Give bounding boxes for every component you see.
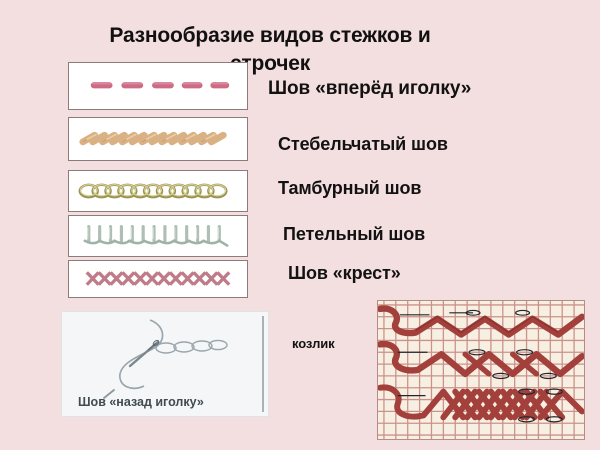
cross-stitch-box: [68, 260, 248, 298]
buttonhole-stitch-box: [68, 215, 248, 257]
backstitch-caption: Шов «назад иголку»: [78, 395, 204, 409]
label-running-stitch: Шов «вперёд иголку»: [268, 78, 471, 100]
backstitch-photo: Шов «назад иголку»: [62, 312, 268, 416]
label-stem-stitch: Стебельчатый шов: [278, 134, 448, 155]
label-chain-stitch: Тамбурный шов: [278, 178, 421, 199]
label-herringbone-stitch: козлик: [292, 336, 335, 351]
herringbone-diagram: [377, 300, 585, 440]
label-buttonhole-stitch: Петельный шов: [283, 224, 425, 245]
buttonhole-stitch-swatch: [69, 216, 247, 256]
cross-stitch-swatch: [69, 261, 247, 297]
chain-stitch-swatch: [69, 171, 247, 211]
chain-stitch-box: [68, 170, 248, 212]
label-cross-stitch: Шов «крест»: [288, 263, 401, 284]
stem-stitch-swatch: [69, 118, 247, 160]
stem-stitch-box: [68, 117, 248, 161]
slide-canvas: Разнообразие видов стежков и строчек: [0, 0, 600, 450]
running-stitch-box: [68, 62, 248, 110]
herringbone-illustration: [378, 301, 584, 439]
running-stitch-swatch: [69, 63, 247, 109]
